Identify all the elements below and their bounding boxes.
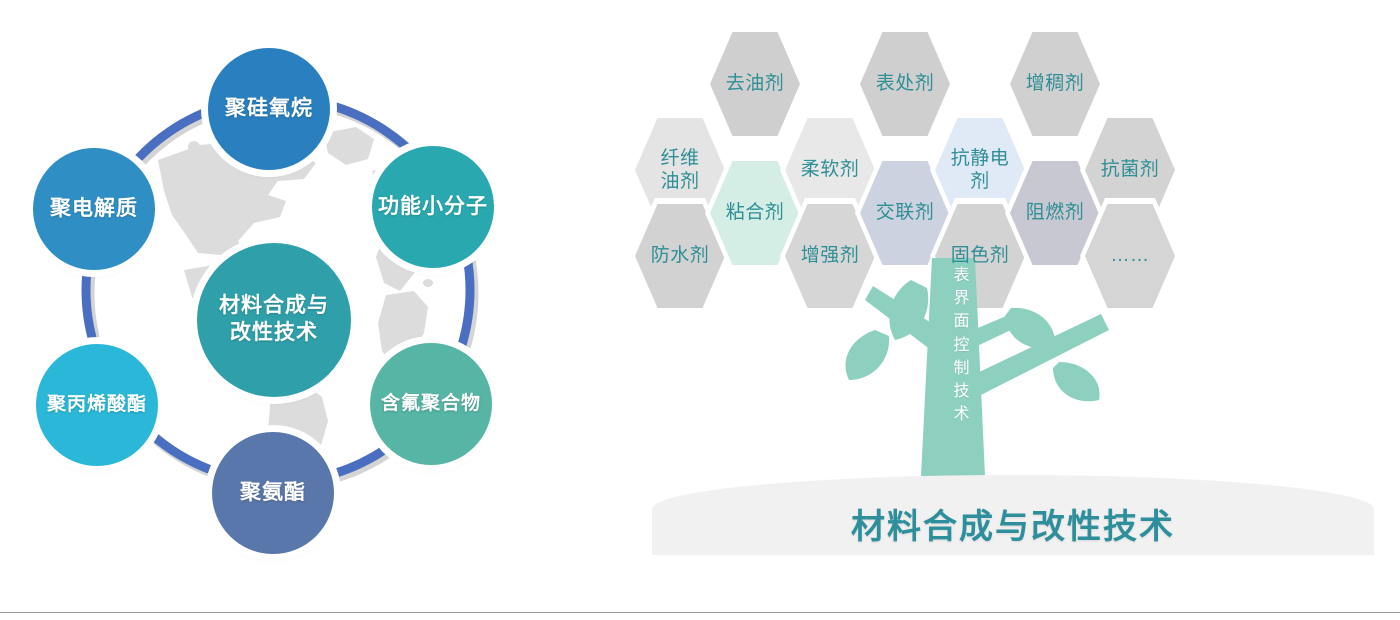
hexagon-label-line1: 抗菌剂 bbox=[1094, 158, 1166, 181]
hexagon-label-line1: 表处剂 bbox=[869, 72, 941, 95]
circle-node-label: 含氟聚合物 bbox=[381, 392, 481, 416]
circle-node-center[interactable]: 材料合成与 改性技术 bbox=[197, 243, 351, 397]
circle-node-fluoropolymer[interactable]: 含氟聚合物 bbox=[370, 343, 492, 465]
hexagon-label: 增稠剂 bbox=[1019, 72, 1091, 95]
hexagon-label: 纤维油剂 bbox=[644, 147, 716, 193]
tree-trunk-label: 表界面控制技术 bbox=[944, 264, 980, 426]
hexagon-label-line1: …… bbox=[1094, 244, 1166, 267]
trunk-label-char: 界 bbox=[944, 287, 980, 310]
trunk-label-char: 术 bbox=[944, 403, 980, 426]
hexagon-label: 柔软剂 bbox=[794, 158, 866, 181]
circle-node-functional-small-molecule[interactable]: 功能小分子 bbox=[372, 146, 494, 268]
hexagon-label-line1: 抗静电 bbox=[944, 147, 1016, 170]
trunk-label-char: 制 bbox=[944, 357, 980, 380]
hexagon-label-line1: 交联剂 bbox=[869, 201, 941, 224]
hexagon-label-line1: 纤维 bbox=[644, 147, 716, 170]
hexagon-label-line1: 去油剂 bbox=[719, 72, 791, 95]
platform-title: 材料合成与改性技术 bbox=[652, 499, 1374, 548]
center-label-line1: 材料合成与 bbox=[219, 293, 329, 320]
circle-node-polysiloxane[interactable]: 聚硅氧烷 bbox=[208, 48, 330, 170]
hexagon-label: 防水剂 bbox=[644, 244, 716, 267]
hexagon-label-line1: 防水剂 bbox=[644, 244, 716, 267]
hexagon-label: 去油剂 bbox=[719, 72, 791, 95]
hexagon-label: 表处剂 bbox=[869, 72, 941, 95]
trunk-label-char: 面 bbox=[944, 310, 980, 333]
hexagon-label: …… bbox=[1094, 244, 1166, 267]
hexagon-label-line1: 增强剂 bbox=[794, 244, 866, 267]
circle-node-label: 功能小分子 bbox=[378, 194, 488, 221]
circle-node-polyurethane[interactable]: 聚氨酯 bbox=[212, 432, 334, 554]
hexagon-label-line2: 油剂 bbox=[644, 170, 716, 193]
hexagon-label: 阻燃剂 bbox=[1019, 201, 1091, 224]
hexagon-label-line1: 柔软剂 bbox=[794, 158, 866, 181]
circle-node-label: 聚氨酯 bbox=[240, 480, 306, 507]
right-hexagon-tree-diagram: 纤维油剂去油剂防水剂粘合剂柔软剂增强剂表处剂交联剂抗静电剂固色剂增稠剂阻燃剂抗菌… bbox=[620, 0, 1400, 610]
hexagon-label: 抗静电剂 bbox=[944, 147, 1016, 193]
trunk-label-char: 表 bbox=[944, 264, 980, 287]
bottom-divider bbox=[0, 612, 1400, 613]
trunk-label-char: 技 bbox=[944, 380, 980, 403]
hexagon-label: 交联剂 bbox=[869, 201, 941, 224]
center-label-line2: 改性技术 bbox=[219, 320, 329, 347]
left-circle-diagram: 聚硅氧烷 功能小分子 含氟聚合物 聚氨酯 聚丙烯酸酯 聚电解质 材料合成与 改性… bbox=[0, 0, 620, 610]
slide-canvas: 聚硅氧烷 功能小分子 含氟聚合物 聚氨酯 聚丙烯酸酯 聚电解质 材料合成与 改性… bbox=[0, 0, 1400, 620]
hexagon-label-line1: 粘合剂 bbox=[719, 201, 791, 224]
platform-base: 材料合成与改性技术 bbox=[652, 475, 1374, 555]
circle-node-label: 聚硅氧烷 bbox=[225, 96, 313, 123]
hexagon-label-line1: 增稠剂 bbox=[1019, 72, 1091, 95]
circle-node-polyacrylate[interactable]: 聚丙烯酸酯 bbox=[36, 344, 158, 466]
circle-node-label: 聚丙烯酸酯 bbox=[47, 393, 147, 417]
hexagon-label-line2: 剂 bbox=[944, 170, 1016, 193]
circle-node-label: 聚电解质 bbox=[50, 196, 138, 223]
hexagon-label: 抗菌剂 bbox=[1094, 158, 1166, 181]
hexagon-label: 增强剂 bbox=[794, 244, 866, 267]
hexagon-label-line1: 阻燃剂 bbox=[1019, 201, 1091, 224]
tree-graphic: 表界面控制技术 bbox=[815, 258, 1125, 488]
circle-node-polyelectrolyte[interactable]: 聚电解质 bbox=[33, 148, 155, 270]
hexagon-label: 粘合剂 bbox=[719, 201, 791, 224]
trunk-label-char: 控 bbox=[944, 334, 980, 357]
